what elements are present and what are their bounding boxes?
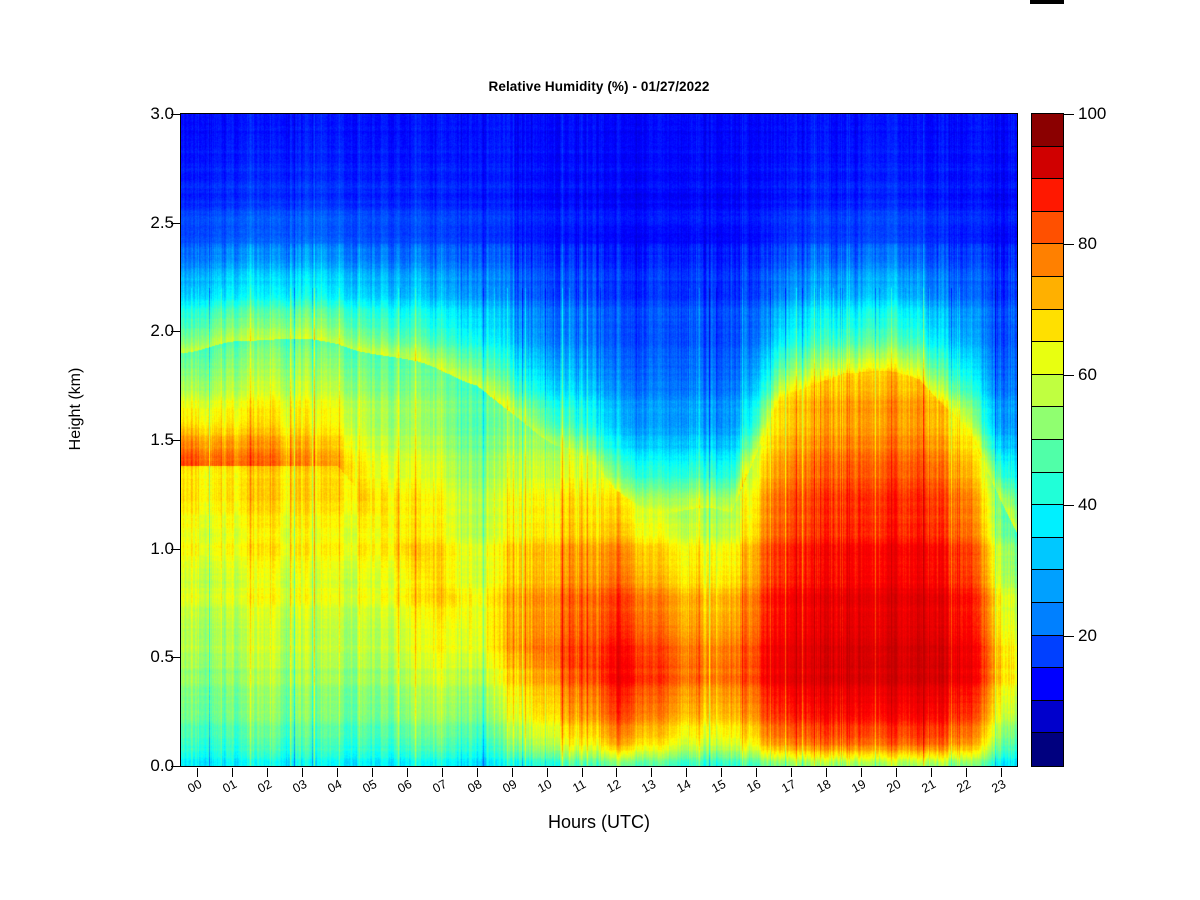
- y-tick-label: 0.0: [150, 757, 174, 774]
- colorbar-band: [1032, 212, 1063, 244]
- relative-humidity-figure: Relative Humidity (%) - 01/27/2022 Heigh…: [0, 0, 1200, 900]
- colorbar-band: [1032, 570, 1063, 603]
- x-tick-label: 21: [920, 778, 938, 796]
- y-tick-label: 1.5: [150, 431, 174, 448]
- x-tick-label: 16: [745, 778, 763, 796]
- x-tick-label: 09: [501, 778, 519, 796]
- x-tick-label: 17: [780, 778, 798, 796]
- top-edge-artifact-bar: [1030, 0, 1064, 4]
- colorbar-band: [1032, 505, 1063, 538]
- colorbar-tick-mark: [1064, 505, 1074, 506]
- colorbar-tick-mark: [1064, 244, 1074, 245]
- colorbar-band: [1032, 668, 1063, 701]
- colorbar-band: [1032, 538, 1063, 570]
- x-tick-label: 13: [640, 778, 658, 796]
- x-tick-label: 19: [850, 778, 868, 796]
- colorbar-tick-label: 100: [1078, 105, 1106, 122]
- x-tick-label: 00: [186, 778, 204, 796]
- y-tick-label: 2.0: [150, 322, 174, 339]
- y-axis-label: Height (km): [67, 329, 85, 489]
- x-tick-label: 02: [256, 778, 274, 796]
- colorbar-tick-label: 40: [1078, 496, 1097, 513]
- y-tick-label: 2.5: [150, 214, 174, 231]
- colorbar-tick-label: 80: [1078, 235, 1097, 252]
- x-tick-label: 10: [536, 778, 554, 796]
- page-title: Relative Humidity (%) - 01/27/2022: [180, 79, 1018, 95]
- x-tick-label: 12: [605, 778, 623, 796]
- colorbar-band: [1032, 375, 1063, 407]
- colorbar-band: [1032, 636, 1063, 668]
- colorbar-tick-mark: [1064, 636, 1074, 637]
- colorbar-band: [1032, 603, 1063, 636]
- colorbar-tick-mark: [1064, 114, 1074, 115]
- colorbar-band: [1032, 277, 1063, 310]
- colorbar-tick-mark: [1064, 375, 1074, 376]
- colorbar-band: [1032, 473, 1063, 505]
- x-tick-label: 18: [815, 778, 833, 796]
- colorbar-band: [1032, 114, 1063, 147]
- colorbar-band: [1032, 244, 1063, 277]
- x-tick-label: 20: [885, 778, 903, 796]
- x-tick-label: 03: [291, 778, 309, 796]
- y-tick-label: 1.0: [150, 540, 174, 557]
- colorbar-band: [1032, 701, 1063, 733]
- colorbar-band: [1032, 407, 1063, 440]
- colorbar-band: [1032, 733, 1063, 766]
- colorbar-band: [1032, 310, 1063, 342]
- x-tick-label: 04: [326, 778, 344, 796]
- colorbar-tick-label: 20: [1078, 627, 1097, 644]
- x-tick-label: 05: [361, 778, 379, 796]
- x-tick-label: 14: [675, 778, 693, 796]
- y-tick-label: 3.0: [150, 105, 174, 122]
- heatmap-plot-area: [180, 113, 1018, 767]
- x-tick-mark: [582, 768, 583, 777]
- colorbar-band: [1032, 440, 1063, 473]
- x-tick-label: 11: [571, 778, 589, 796]
- relative-humidity-heatmap: [181, 114, 1017, 766]
- colorbar-tick-label: 60: [1078, 366, 1097, 383]
- colorbar-band: [1032, 179, 1063, 212]
- x-tick-label: 15: [710, 778, 728, 796]
- x-axis-label: Hours (UTC): [180, 812, 1018, 833]
- y-tick-label: 0.5: [150, 648, 174, 665]
- x-tick-label: 07: [431, 778, 449, 796]
- x-tick-label: 01: [221, 778, 239, 796]
- x-tick-label: 08: [466, 778, 484, 796]
- x-tick-label: 22: [955, 778, 973, 796]
- colorbar-band: [1032, 342, 1063, 375]
- x-tick-label: 06: [396, 778, 414, 796]
- x-tick-label: 23: [990, 778, 1008, 796]
- colorbar-band: [1032, 147, 1063, 179]
- colorbar: [1031, 113, 1064, 767]
